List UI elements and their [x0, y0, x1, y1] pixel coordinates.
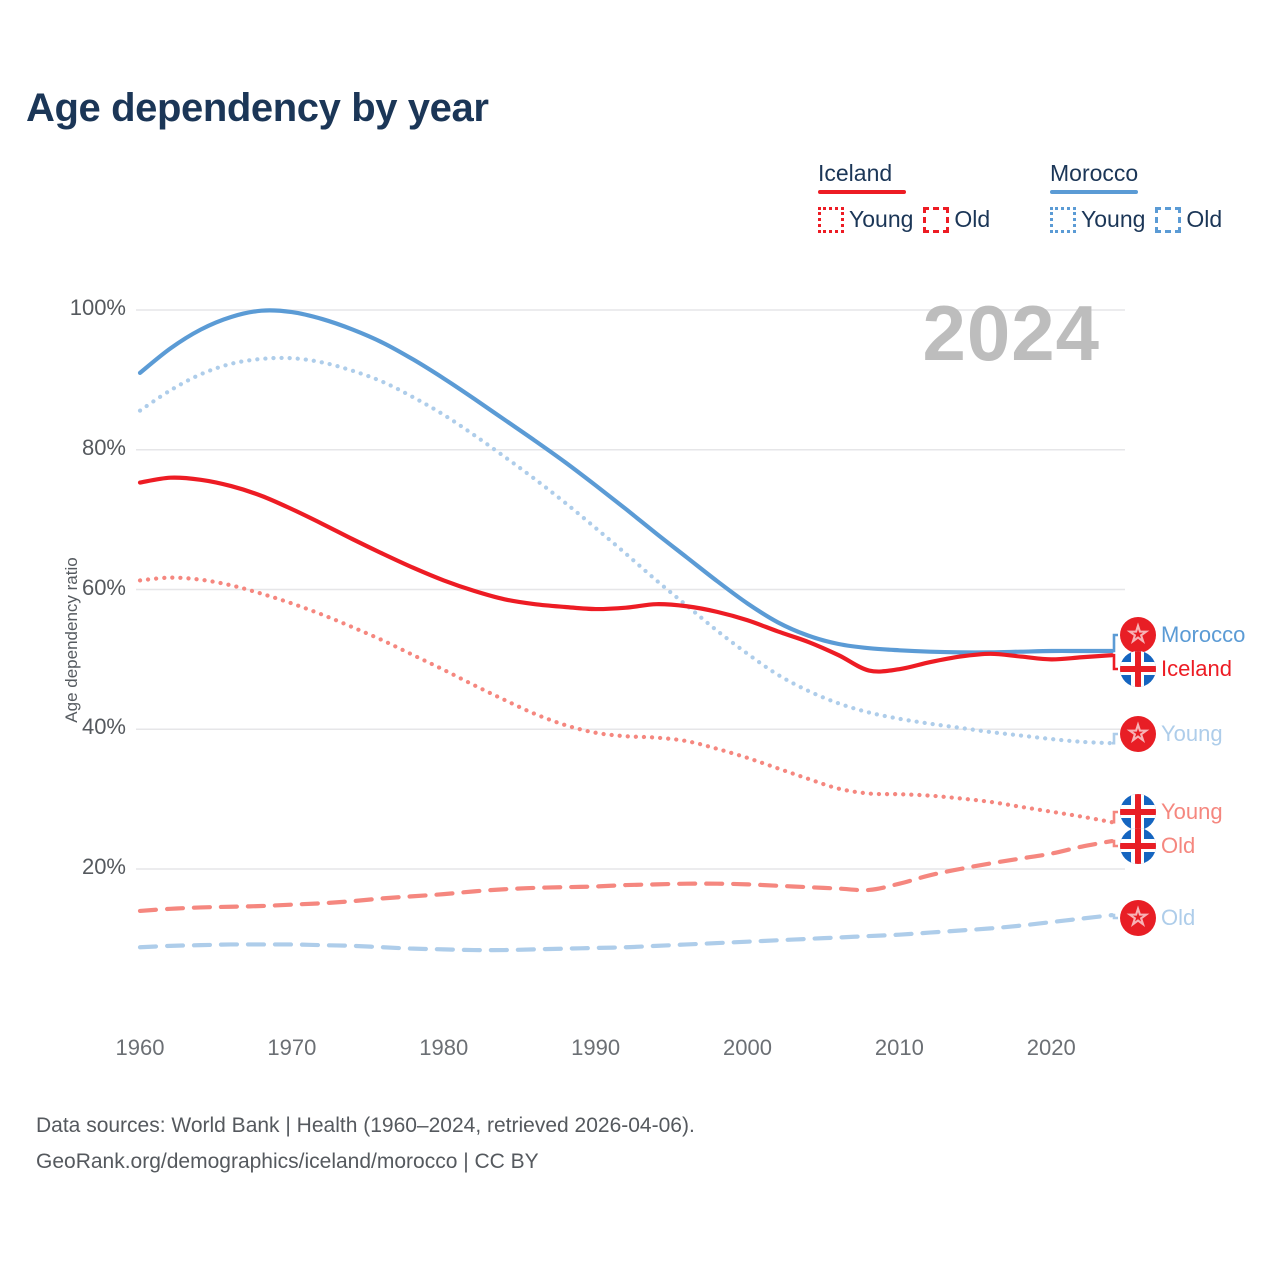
- x-tick-2020: 2020: [1006, 1035, 1096, 1061]
- endpoint-iceland-iceland[interactable]: Iceland: [1120, 651, 1232, 687]
- iceland-flag-icon: [1120, 828, 1156, 864]
- endpoint-label: Morocco: [1161, 622, 1245, 648]
- gridlines: [136, 310, 1125, 869]
- morocco-flag-icon: ☆: [1120, 900, 1156, 936]
- x-tick-1960: 1960: [95, 1035, 185, 1061]
- endpoint-morocco-young[interactable]: ☆Young: [1120, 716, 1223, 752]
- morocco-flag-icon: ☆: [1120, 716, 1156, 752]
- y-tick-20: 20%: [36, 854, 126, 880]
- iceland-flag-icon: [1120, 651, 1156, 687]
- y-tick-40: 40%: [36, 714, 126, 740]
- endpoint-label: Young: [1161, 799, 1223, 825]
- x-tick-2010: 2010: [854, 1035, 944, 1061]
- endpoint-label: Iceland: [1161, 656, 1232, 682]
- endpoint-iceland-young[interactable]: Young: [1120, 794, 1223, 830]
- endpoint-iceland-old[interactable]: Old: [1120, 828, 1195, 864]
- iceland-flag-icon: [1120, 794, 1156, 830]
- endpoint-morocco-old[interactable]: ☆Old: [1120, 900, 1195, 936]
- x-tick-1980: 1980: [399, 1035, 489, 1061]
- chart-area: 2024 Age dependency ratio 20%40%60%80%10…: [0, 0, 1280, 1280]
- y-tick-60: 60%: [36, 575, 126, 601]
- endpoint-label: Old: [1161, 905, 1195, 931]
- endpoint-label: Young: [1161, 721, 1223, 747]
- endpoint-morocco-morocco[interactable]: ☆Morocco: [1120, 617, 1245, 653]
- year-watermark: 2024: [922, 288, 1100, 379]
- endpoint-label: Old: [1161, 833, 1195, 859]
- series-lines: [140, 310, 1112, 950]
- x-tick-2000: 2000: [703, 1035, 793, 1061]
- x-tick-1970: 1970: [247, 1035, 337, 1061]
- morocco-flag-icon: ☆: [1120, 617, 1156, 653]
- footer-line-1: Data sources: World Bank | Health (1960–…: [36, 1108, 695, 1144]
- footer: Data sources: World Bank | Health (1960–…: [36, 1108, 695, 1180]
- y-tick-80: 80%: [36, 435, 126, 461]
- x-tick-1990: 1990: [551, 1035, 641, 1061]
- leader-lines: [1112, 635, 1118, 918]
- chart-svg: [0, 0, 1280, 1280]
- y-tick-100: 100%: [36, 295, 126, 321]
- footer-line-2: GeoRank.org/demographics/iceland/morocco…: [36, 1144, 695, 1180]
